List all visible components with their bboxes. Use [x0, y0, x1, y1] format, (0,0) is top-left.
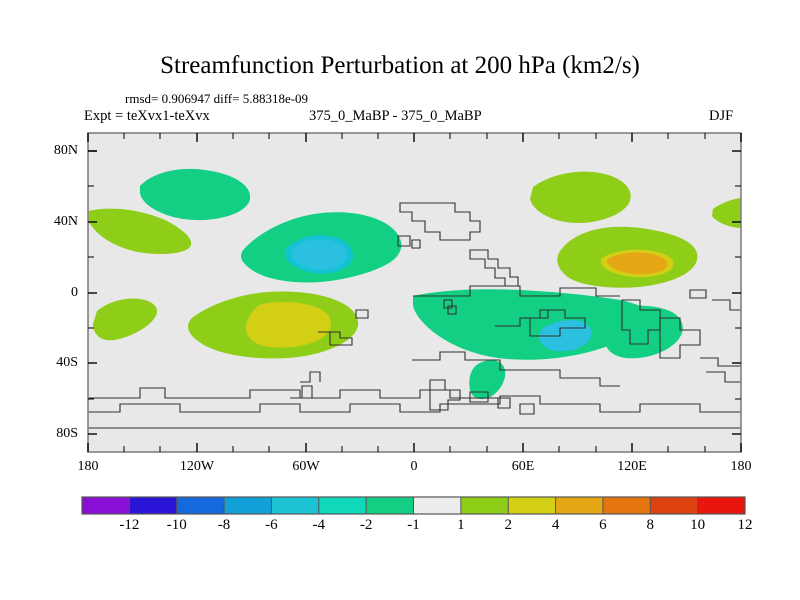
- colorbar-swatch[interactable]: [271, 497, 318, 514]
- colorbar-swatch[interactable]: [319, 497, 366, 514]
- colorbar-swatch[interactable]: [603, 497, 650, 514]
- y-tick-label: 80S: [34, 426, 78, 442]
- colorbar-tick-label: 12: [715, 517, 775, 534]
- y-tick-label: 80N: [34, 143, 78, 159]
- x-tick-label: 180: [58, 459, 118, 475]
- figure-canvas: Streamfunction Perturbation at 200 hPa (…: [0, 0, 800, 600]
- colorbar[interactable]: [82, 497, 745, 514]
- colorbar-swatch[interactable]: [414, 497, 461, 514]
- colorbar-swatch[interactable]: [650, 497, 697, 514]
- map-plot: [0, 0, 800, 600]
- x-tick-label: 120W: [167, 459, 227, 475]
- colorbar-swatch[interactable]: [366, 497, 413, 514]
- colorbar-swatch[interactable]: [461, 497, 508, 514]
- y-tick-label: 0: [34, 285, 78, 301]
- colorbar-swatch[interactable]: [508, 497, 555, 514]
- colorbar-swatch[interactable]: [698, 497, 745, 514]
- x-tick-label: 60E: [493, 459, 553, 475]
- colorbar-swatch[interactable]: [556, 497, 603, 514]
- colorbar-swatch[interactable]: [224, 497, 271, 514]
- x-tick-label: 180: [711, 459, 771, 475]
- colorbar-swatch[interactable]: [129, 497, 176, 514]
- y-tick-label: 40S: [34, 355, 78, 371]
- colorbar-swatch[interactable]: [177, 497, 224, 514]
- x-tick-label: 0: [384, 459, 444, 475]
- x-tick-label: 120E: [602, 459, 662, 475]
- y-tick-label: 40N: [34, 214, 78, 230]
- colorbar-swatch[interactable]: [82, 497, 129, 514]
- x-tick-label: 60W: [276, 459, 336, 475]
